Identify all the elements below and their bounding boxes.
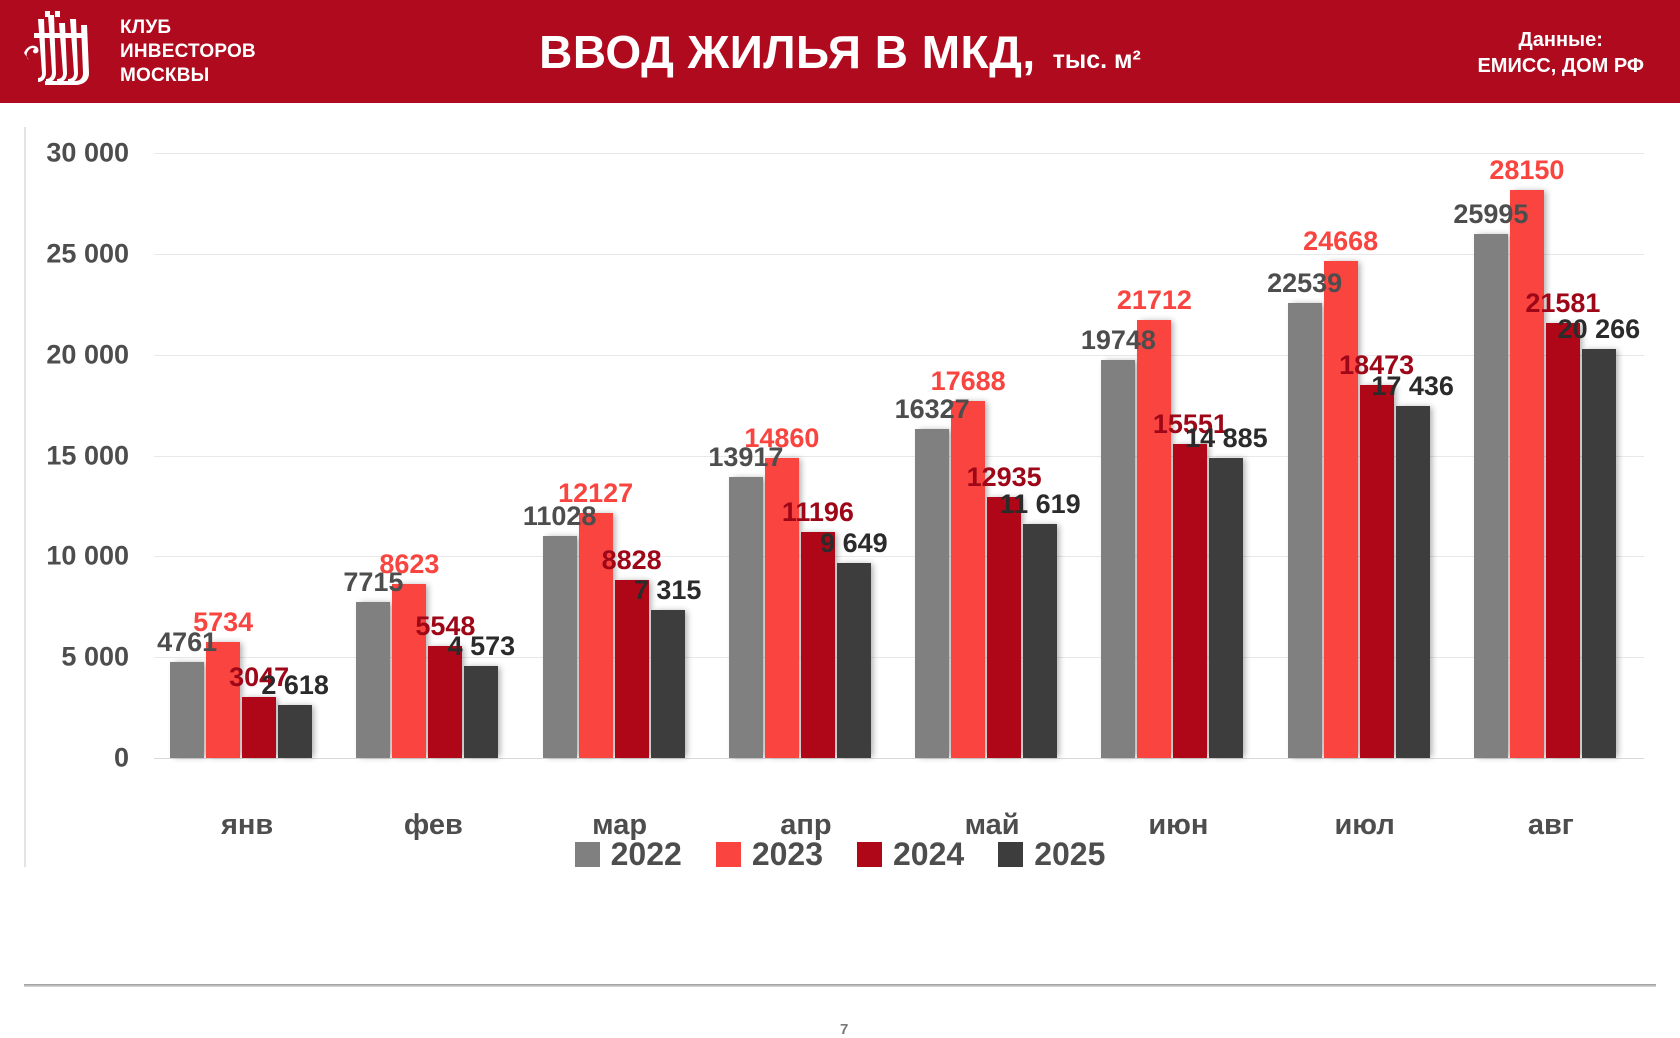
legend-label: 2022 — [611, 836, 682, 873]
bar-2022-июн[interactable] — [1101, 360, 1135, 758]
bar-group — [543, 153, 685, 758]
legend-swatch-icon — [857, 842, 882, 867]
data-label-2023-июл: 24668 — [1303, 228, 1378, 255]
bar-2024-янв[interactable] — [242, 697, 276, 758]
bar-2022-мар[interactable] — [543, 536, 577, 758]
bar-2025-июл[interactable] — [1396, 406, 1430, 758]
y-axis-tick-label: 20 000 — [0, 339, 129, 370]
bar-2024-фев[interactable] — [428, 646, 462, 758]
bar-2025-авг[interactable] — [1582, 349, 1616, 758]
data-label-2025-апр: 9 649 — [820, 530, 888, 557]
data-label-2025-янв: 2 618 — [261, 672, 329, 699]
bar-2023-июн[interactable] — [1137, 320, 1171, 758]
bar-2023-авг[interactable] — [1510, 190, 1544, 758]
brand-line-3: МОСКВЫ — [120, 64, 256, 88]
data-source-value: ЕМИСС, ДОМ РФ — [1477, 53, 1644, 79]
data-label-2025-май: 11 619 — [1000, 491, 1081, 518]
bar-2025-фев[interactable] — [464, 666, 498, 758]
slide-body: 05 00010 00015 00020 00025 00030 0004761… — [0, 103, 1680, 945]
bar-2022-апр[interactable] — [729, 477, 763, 758]
brand-line-2: ИНВЕСТОРОВ — [120, 40, 256, 64]
page-title: ВВОД ЖИЛЬЯ В МКД, — [539, 25, 1036, 79]
bar-group — [1101, 153, 1243, 758]
bar-2022-июл[interactable] — [1288, 303, 1322, 758]
data-label-2025-июн: 14 885 — [1185, 425, 1268, 452]
legend-item-2024[interactable]: 2024 — [857, 836, 964, 873]
bar-2023-май[interactable] — [951, 401, 985, 758]
legend-item-2023[interactable]: 2023 — [716, 836, 823, 873]
brand-line-1: КЛУБ — [120, 16, 256, 40]
bar-2025-апр[interactable] — [837, 563, 871, 758]
data-label-2022-май: 16327 — [895, 396, 970, 423]
legend-label: 2023 — [752, 836, 823, 873]
data-label-2025-мар: 7 315 — [634, 577, 702, 604]
data-label-2024-мар: 8828 — [602, 547, 662, 574]
data-label-2022-июл: 22539 — [1267, 270, 1342, 297]
bar-2022-фев[interactable] — [356, 602, 390, 758]
bar-chart: 05 00010 00015 00020 00025 00030 0004761… — [24, 121, 1656, 911]
data-label-2025-авг: 20 266 — [1558, 316, 1641, 343]
data-source: Данные: ЕМИСС, ДОМ РФ — [1477, 27, 1644, 79]
bar-2025-июн[interactable] — [1209, 458, 1243, 758]
legend-item-2022[interactable]: 2022 — [575, 836, 682, 873]
slide-header: КЛУБ ИНВЕСТОРОВ МОСКВЫ ВВОД ЖИЛЬЯ В МКД,… — [0, 0, 1680, 103]
y-axis-tick-label: 0 — [0, 743, 129, 774]
bar-2022-авг[interactable] — [1474, 234, 1508, 758]
bar-2024-июн[interactable] — [1173, 444, 1207, 758]
data-source-label: Данные: — [1477, 27, 1644, 53]
y-axis-tick-label: 15 000 — [0, 440, 129, 471]
data-label-2022-июн: 19748 — [1081, 327, 1156, 354]
bar-2022-янв[interactable] — [170, 662, 204, 758]
data-label-2024-авг: 21581 — [1525, 290, 1600, 317]
legend-swatch-icon — [575, 842, 600, 867]
data-label-2024-май: 12935 — [967, 464, 1042, 491]
club-monogram-icon — [14, 9, 106, 95]
data-label-2023-авг: 28150 — [1489, 157, 1564, 184]
bar-2024-апр[interactable] — [801, 532, 835, 758]
legend-label: 2025 — [1034, 836, 1105, 873]
data-label-2023-янв: 5734 — [193, 609, 253, 636]
bar-2025-янв[interactable] — [278, 705, 312, 758]
bar-2024-мар[interactable] — [615, 580, 649, 758]
data-label-2024-апр: 11196 — [782, 499, 854, 526]
legend-swatch-icon — [716, 842, 741, 867]
plot-area: 05 00010 00015 00020 00025 00030 0004761… — [154, 153, 1644, 758]
footer-divider — [24, 984, 1656, 987]
gridline — [154, 758, 1644, 759]
data-label-2025-фев: 4 573 — [448, 633, 516, 660]
data-label-2023-мар: 12127 — [558, 480, 633, 507]
bar-2024-авг[interactable] — [1546, 323, 1580, 758]
data-label-2023-июн: 21712 — [1117, 287, 1192, 314]
bar-2022-май[interactable] — [915, 429, 949, 758]
chart-legend: 2022202320242025 — [24, 836, 1656, 873]
data-label-2023-фев: 8623 — [379, 551, 439, 578]
y-axis-tick-label: 10 000 — [0, 541, 129, 572]
data-label-2023-апр: 14860 — [744, 425, 819, 452]
legend-label: 2024 — [893, 836, 964, 873]
bar-group — [1474, 153, 1616, 758]
bar-2023-янв[interactable] — [206, 642, 240, 758]
data-label-2022-авг: 25995 — [1453, 201, 1528, 228]
data-label-2023-май: 17688 — [931, 368, 1006, 395]
legend-item-2025[interactable]: 2025 — [998, 836, 1105, 873]
bar-2025-май[interactable] — [1023, 524, 1057, 758]
page-number: 7 — [840, 1021, 848, 1038]
page-subtitle: тыс. м² — [1053, 46, 1141, 75]
data-label-2025-июл: 17 436 — [1371, 373, 1454, 400]
legend-swatch-icon — [998, 842, 1023, 867]
y-axis-tick-label: 25 000 — [0, 238, 129, 269]
y-axis-tick-label: 30 000 — [0, 138, 129, 169]
bar-2023-июл[interactable] — [1324, 261, 1358, 758]
bar-group — [915, 153, 1057, 758]
bar-2024-май[interactable] — [987, 497, 1021, 758]
brand-wordmark: КЛУБ ИНВЕСТОРОВ МОСКВЫ — [120, 16, 256, 88]
bar-2025-мар[interactable] — [651, 610, 685, 758]
bar-group — [356, 153, 498, 758]
bar-2024-июл[interactable] — [1360, 385, 1394, 758]
y-axis-tick-label: 5 000 — [0, 642, 129, 673]
brand-logo: КЛУБ ИНВЕСТОРОВ МОСКВЫ — [14, 9, 256, 95]
